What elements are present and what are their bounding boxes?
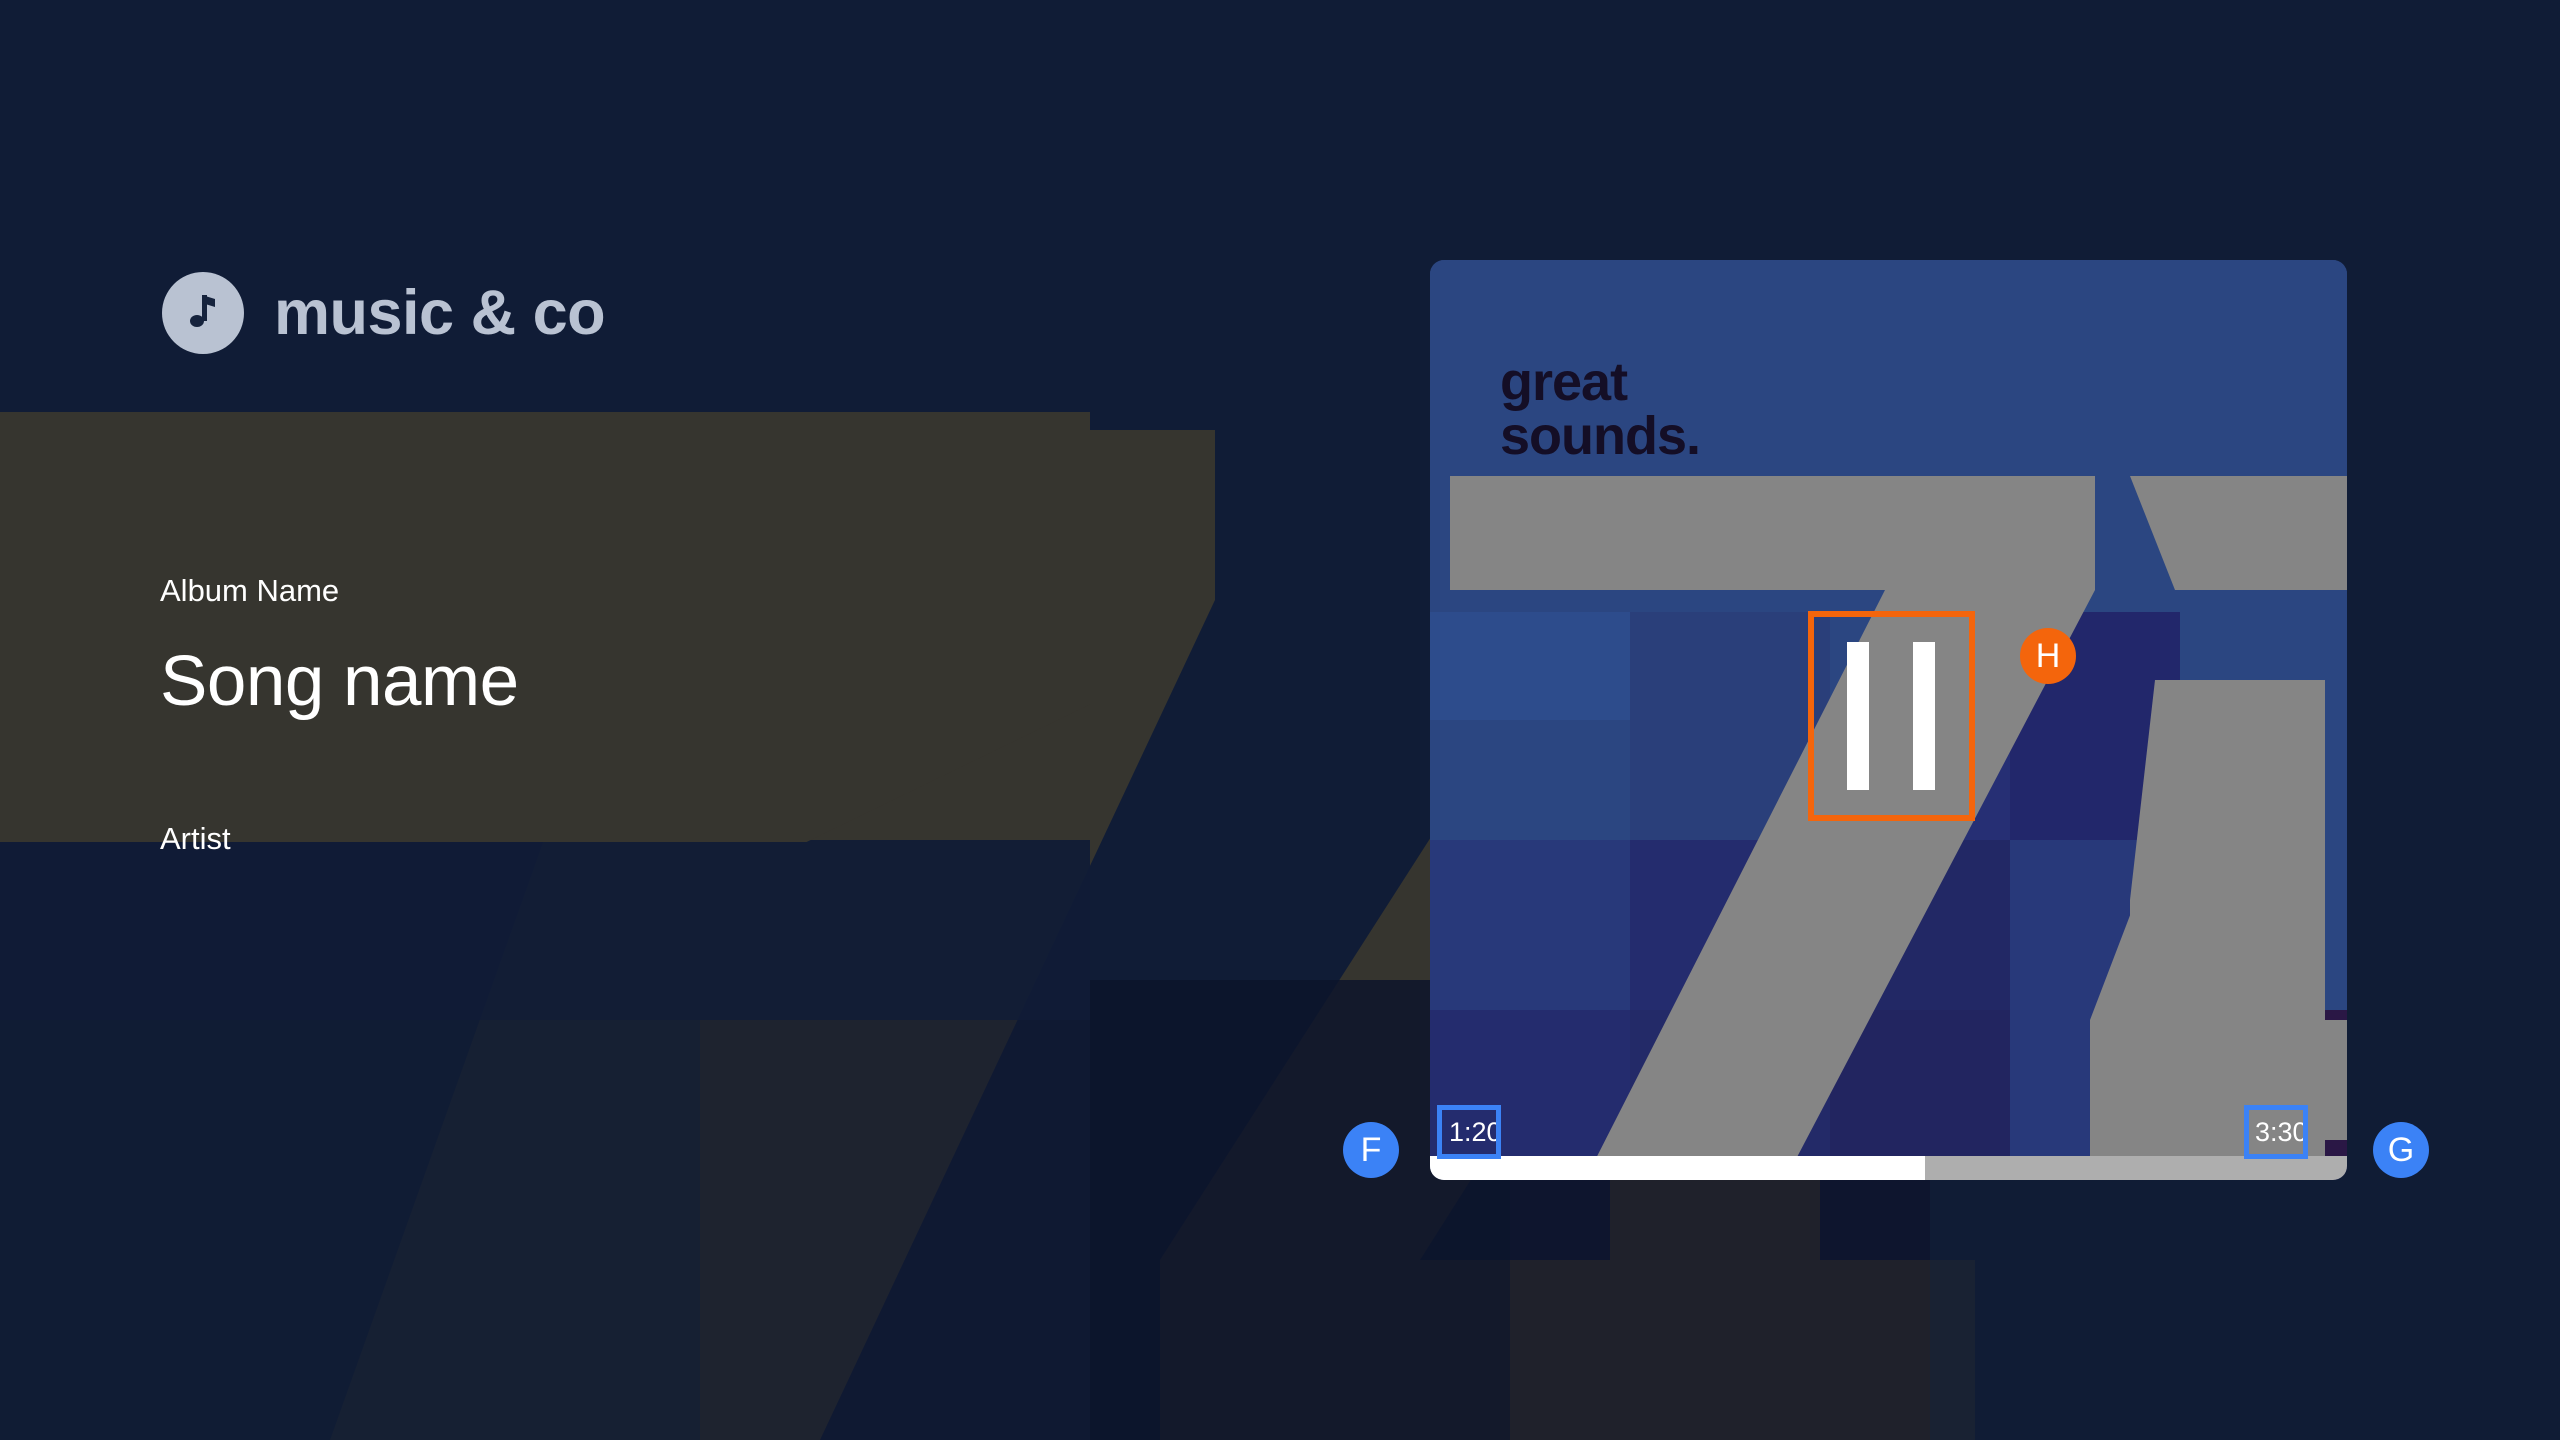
annotation-badge-h: H: [2020, 628, 2076, 684]
album-art-card[interactable]: great sounds.: [1430, 260, 2347, 1180]
cover-tagline-line1: great: [1500, 355, 1700, 409]
music-note-icon: [162, 272, 244, 354]
artist-name: Artist: [160, 820, 231, 857]
cover-tagline: great sounds.: [1500, 355, 1700, 463]
annotation-badge-g: G: [2373, 1122, 2429, 1178]
brand-logo[interactable]: music & co: [162, 272, 605, 354]
pause-icon-bar-right: [1913, 642, 1935, 790]
pause-icon-bar-left: [1847, 642, 1869, 790]
cover-tagline-line2: sounds.: [1500, 409, 1700, 463]
total-time: 3:30: [2255, 1119, 2308, 1146]
brand-name: music & co: [274, 282, 605, 345]
album-name: Album Name: [160, 572, 339, 609]
progress-bar[interactable]: [1430, 1156, 2347, 1180]
music-player-screen: music & co Album Name Song name Artist: [0, 0, 2560, 1440]
song-title: Song name: [160, 638, 519, 727]
elapsed-time: 1:20: [1449, 1119, 1502, 1146]
pause-button[interactable]: [1808, 613, 1973, 818]
progress-bar-fill: [1430, 1156, 1925, 1180]
track-info-panel: [0, 412, 1090, 842]
annotation-badge-f: F: [1343, 1122, 1399, 1178]
